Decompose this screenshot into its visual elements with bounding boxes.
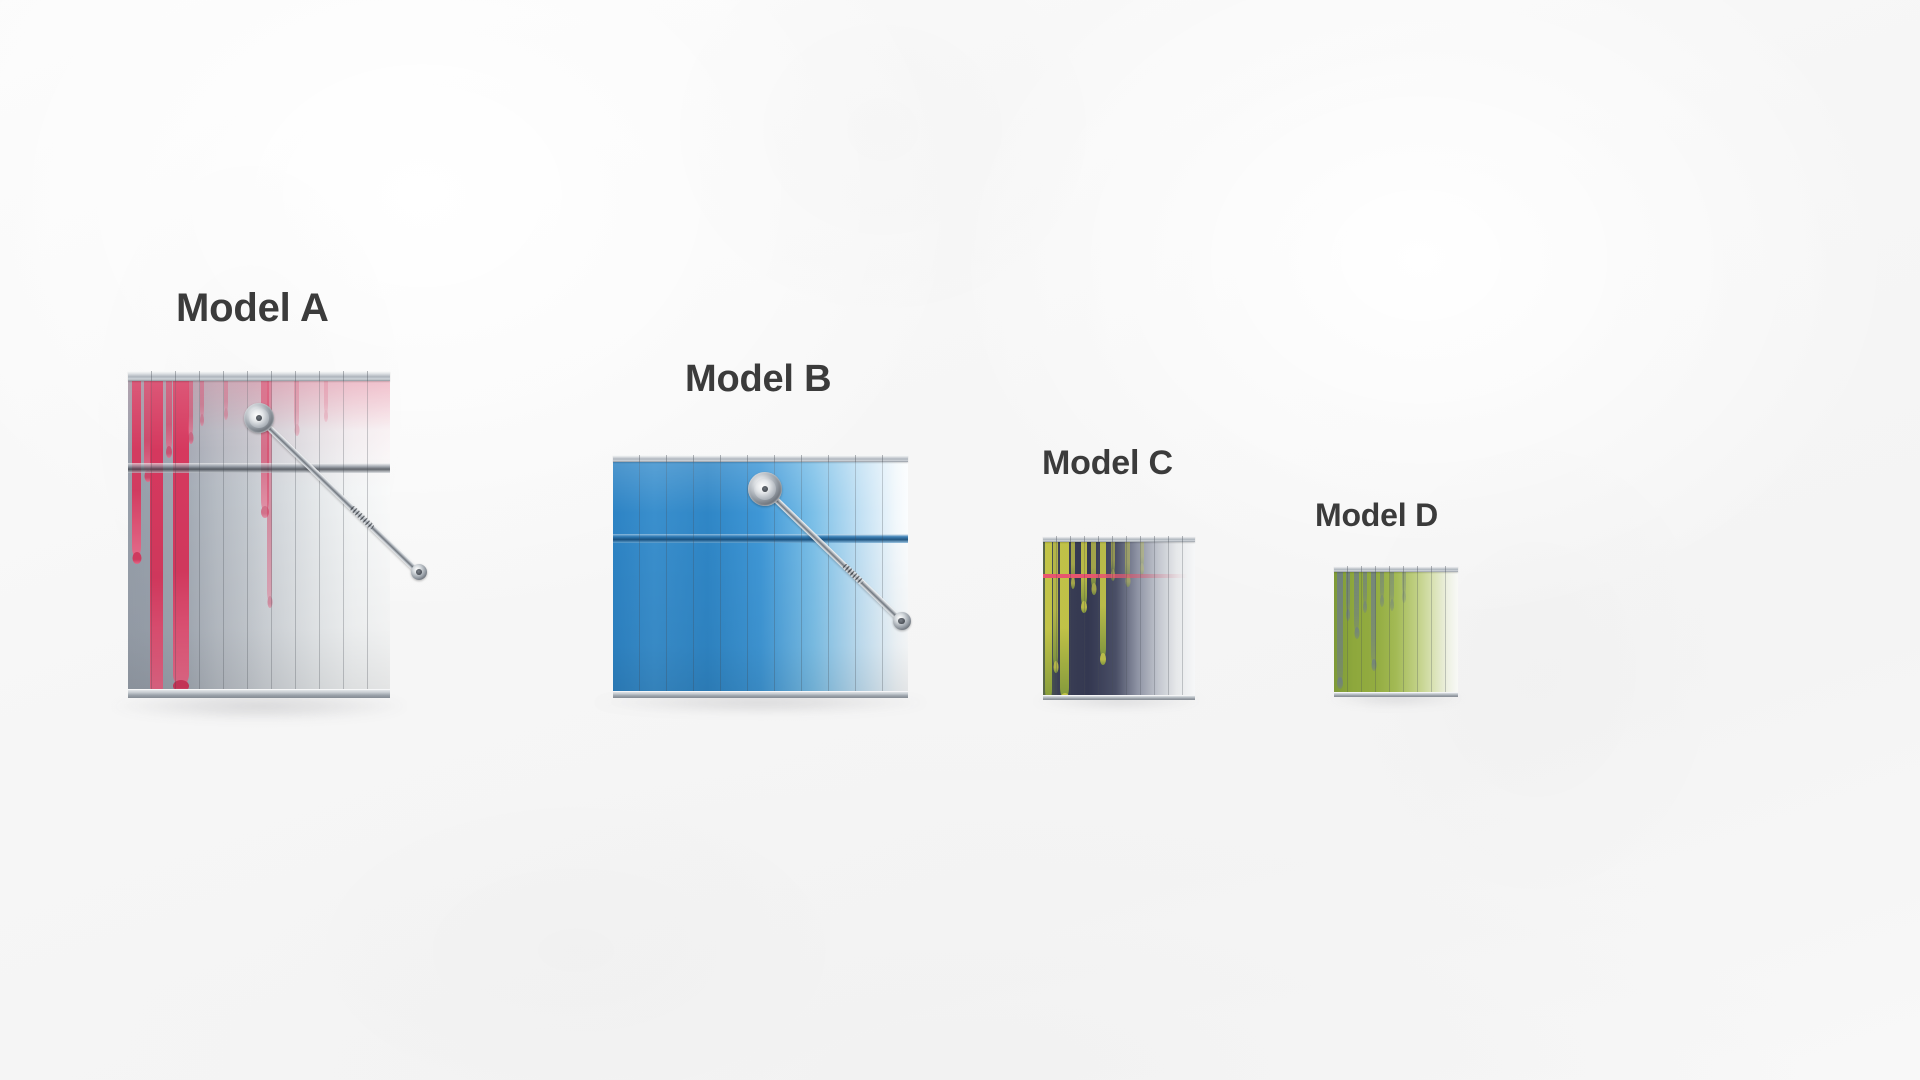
can-bottom-rim: [613, 691, 908, 698]
paint-coat: [1334, 571, 1458, 697]
can-top-rim: [128, 371, 390, 381]
handle-end-cap[interactable]: [893, 612, 911, 630]
can-body: [1334, 571, 1458, 697]
paint-can-model-a[interactable]: [128, 371, 390, 698]
label-model-c: Model C: [1042, 446, 1173, 480]
can-bottom-rim: [1043, 695, 1195, 700]
can-top-rim: [613, 455, 908, 462]
can-top-rim: [1334, 566, 1458, 572]
paint-can-model-b[interactable]: [613, 455, 908, 698]
can-bottom-rim: [1334, 692, 1458, 697]
label-model-d: Model D: [1315, 499, 1438, 531]
paint-can-model-d[interactable]: [1334, 566, 1458, 697]
label-model-b: Model B: [685, 360, 831, 398]
handle-pivot-rivet[interactable]: [244, 403, 274, 433]
label-model-a: Model A: [176, 288, 329, 328]
can-bottom-rim: [128, 689, 390, 698]
handle-pivot-rivet[interactable]: [748, 472, 782, 506]
rim-seam-lines: [1334, 566, 1458, 572]
can-body: [1043, 541, 1195, 700]
paint-can-model-c[interactable]: [1043, 536, 1195, 700]
can-top-rim: [1043, 536, 1195, 542]
can-stripe: [1043, 574, 1195, 578]
rim-seam-lines: [128, 371, 390, 381]
rim-seam-lines: [1043, 536, 1195, 542]
rim-seam-lines: [613, 455, 908, 462]
handle-end-cap[interactable]: [411, 564, 427, 580]
paint-coat: [1043, 541, 1195, 700]
